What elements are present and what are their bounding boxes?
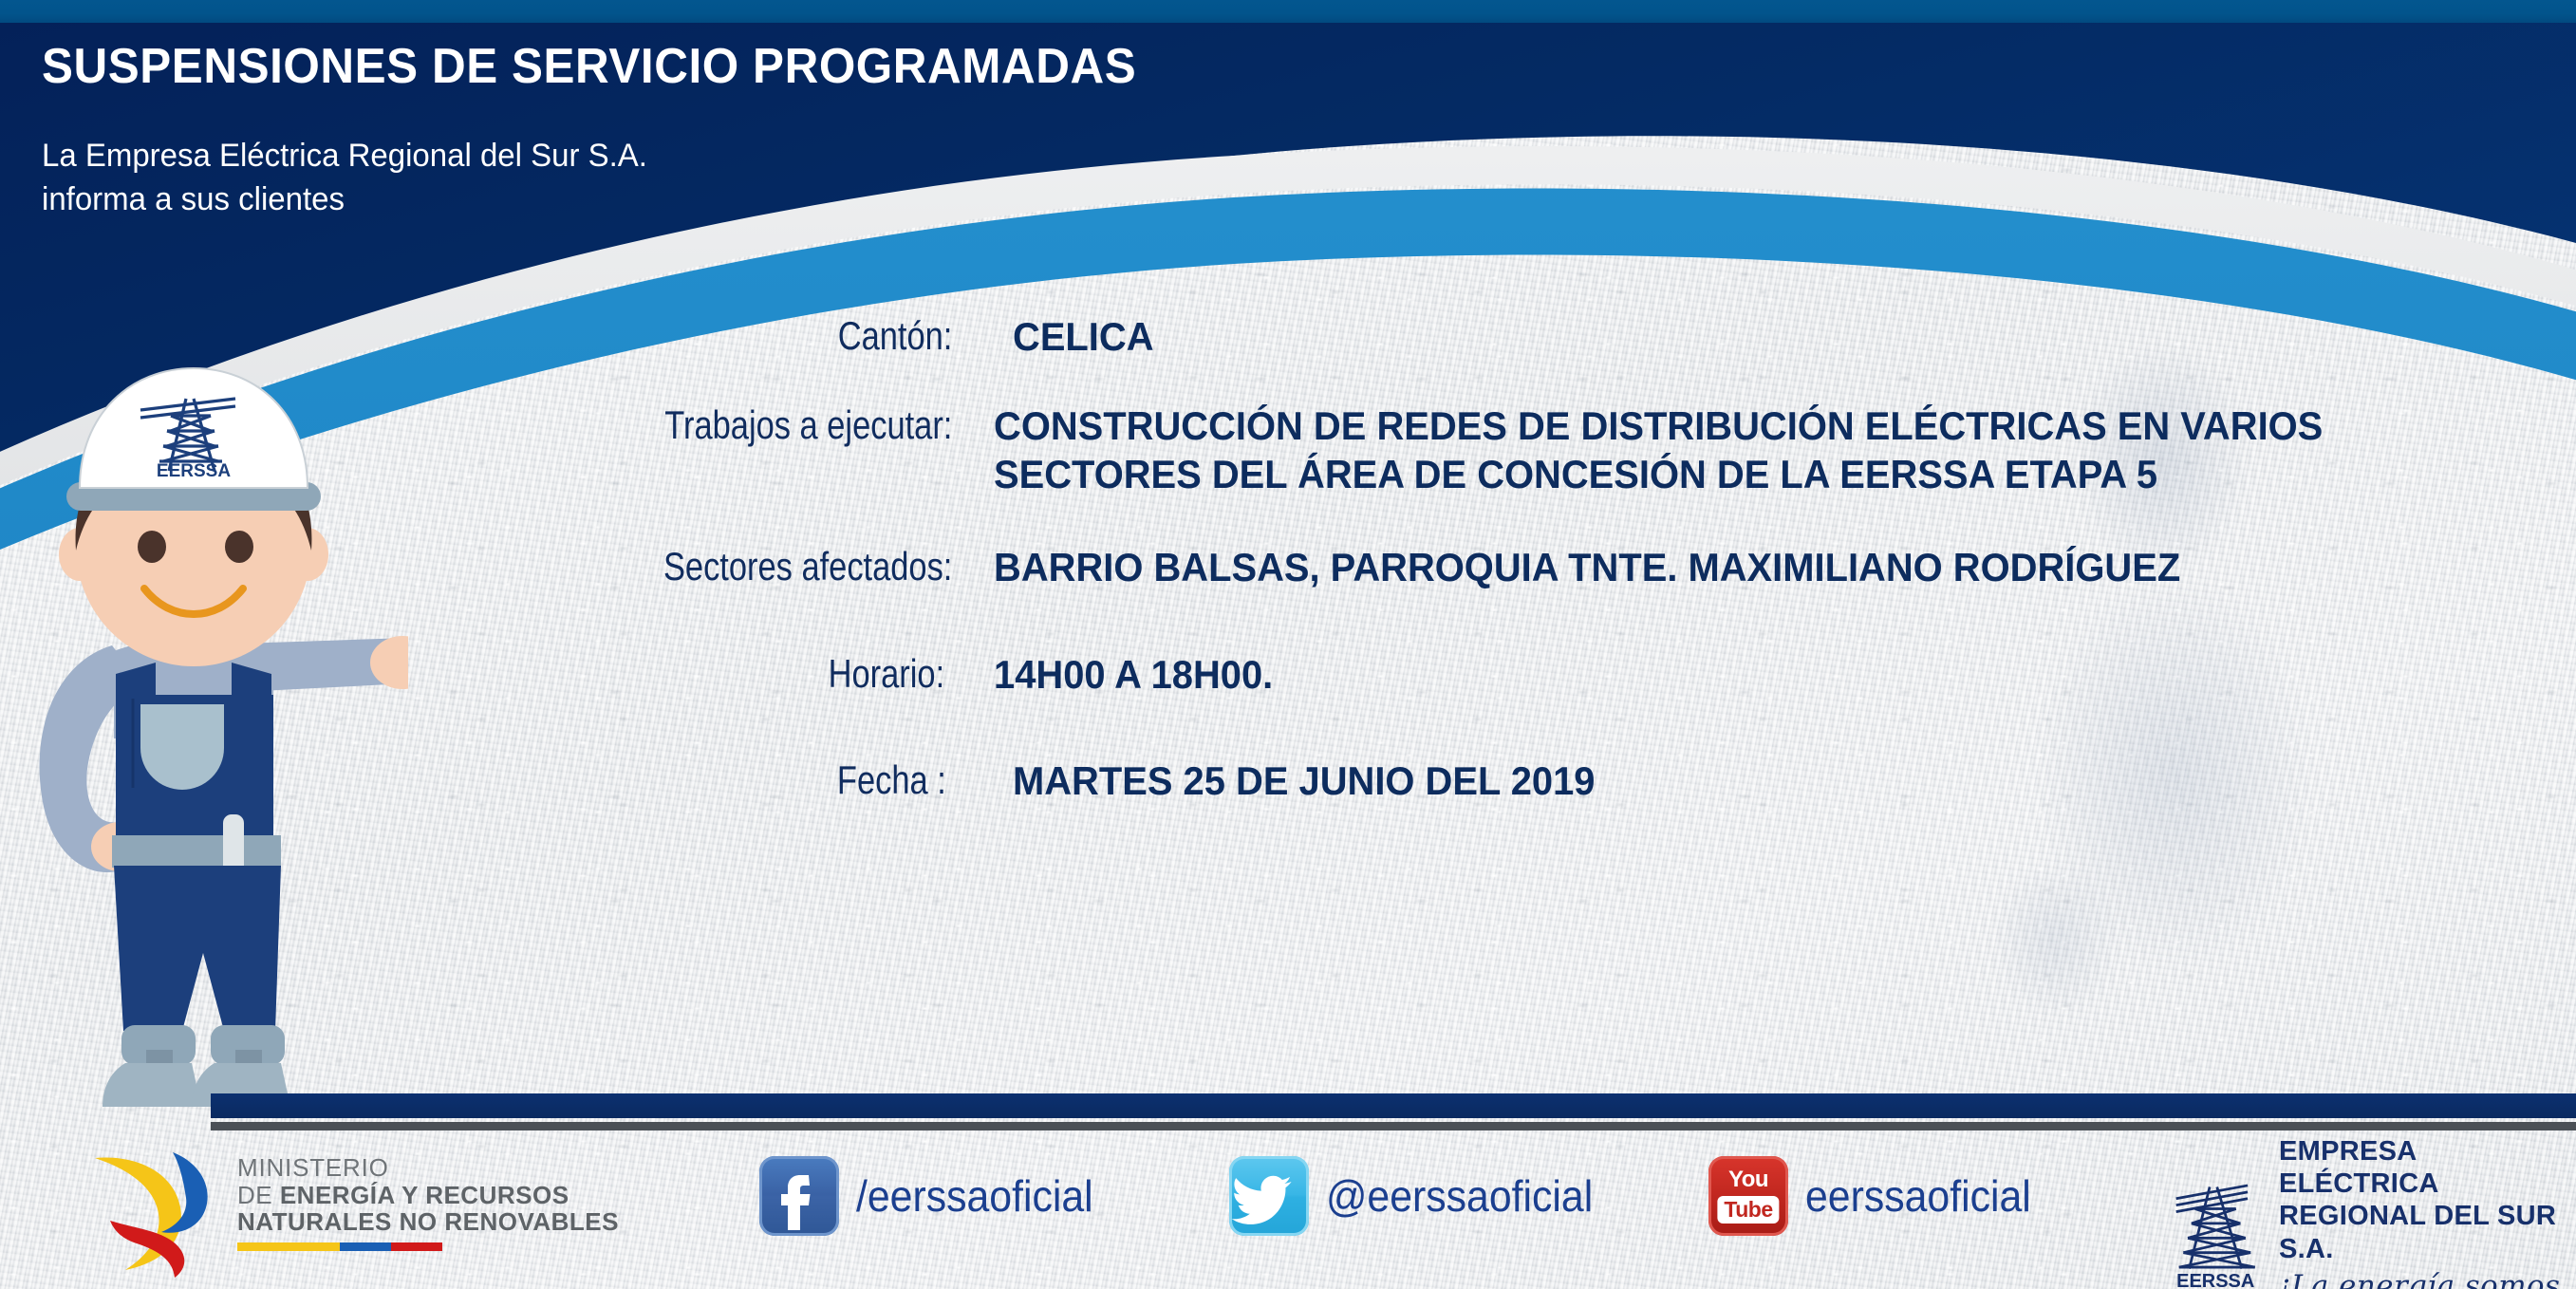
twitter-handle[interactable]: @eerssaoficial [1326, 1170, 1593, 1222]
value-canton: CELICA [1013, 313, 2341, 361]
footer-divider-grey [211, 1122, 2576, 1130]
social-twitter[interactable]: @eerssaoficial [1229, 1156, 1613, 1236]
ministry-logo-block: MINISTERIO DE ENERGÍA Y RECURSOS NATURAL… [82, 1137, 619, 1280]
company-name-line-1: EMPRESA ELÉCTRICA [2279, 1135, 2576, 1200]
company-name-block: EMPRESA ELÉCTRICA REGIONAL DEL SUR S.A. … [2279, 1135, 2576, 1289]
label-fecha: Fecha : [586, 757, 947, 802]
poster-root: SUSPENSIONES DE SERVICIO PROGRAMADAS La … [0, 0, 2576, 1289]
info-row-sectores: Sectores afectados: BARRIO BALSAS, PARRO… [513, 544, 2411, 591]
ministry-line-2-light: DE [237, 1181, 280, 1209]
company-slogan: ¡La energía somos todos! [2279, 1269, 2576, 1289]
top-accent-strip [0, 0, 2576, 23]
twitter-icon[interactable] [1229, 1156, 1309, 1236]
facebook-handle[interactable]: /eerssaoficial [856, 1170, 1093, 1222]
youtube-badge-top: You [1728, 1167, 1768, 1193]
worker-mascot: EERSSA [0, 361, 408, 1149]
ministry-swirl-icon [82, 1137, 224, 1280]
company-name-line-2: REGIONAL DEL SUR S.A. [2279, 1200, 2576, 1264]
label-horario: Horario: [585, 651, 946, 696]
info-block: Cantón: CELICA Trabajos a ejecutar: CONS… [513, 313, 2411, 830]
youtube-icon[interactable]: You Tube [1708, 1156, 1788, 1236]
value-fecha: MARTES 25 DE JUNIO DEL 2019 [1013, 757, 2341, 805]
helmet-logo-text: EERSSA [157, 461, 231, 481]
info-row-canton: Cantón: CELICA [513, 313, 2411, 361]
ministry-line-3: NATURALES NO RENOVABLES [237, 1208, 619, 1236]
label-sectores: Sectores afectados: [592, 544, 954, 588]
info-row-trabajos: Trabajos a ejecutar: CONSTRUCCIÓN DE RED… [513, 402, 2411, 498]
facebook-icon[interactable] [759, 1156, 839, 1236]
label-trabajos: Trabajos a ejecutar: [592, 402, 954, 447]
subtitle-line-1: La Empresa Eléctrica Regional del Sur S.… [42, 135, 647, 178]
footer-divider-navy [211, 1093, 2576, 1118]
page-title: SUSPENSIONES DE SERVICIO PROGRAMADAS [42, 38, 1136, 95]
value-sectores: BARRIO BALSAS, PARROQUIA TNTE. MAXIMILIA… [994, 544, 2340, 591]
social-youtube[interactable]: You Tube eerssaoficial [1708, 1156, 2048, 1236]
eerssa-logo-text: EERSSA [2176, 1271, 2254, 1289]
page-subtitle: La Empresa Eléctrica Regional del Sur S.… [42, 135, 647, 221]
info-row-fecha: Fecha : MARTES 25 DE JUNIO DEL 2019 [513, 757, 2411, 805]
youtube-badge-bottom: Tube [1717, 1196, 1779, 1224]
value-horario: 14H00 A 18H00. [994, 651, 2340, 699]
info-row-horario: Horario: 14H00 A 18H00. [513, 651, 2411, 699]
subtitle-line-2: informa a sus clientes [42, 178, 647, 222]
label-canton: Cantón: [592, 313, 954, 358]
ecuador-flag-bar [237, 1242, 442, 1251]
company-logo-block: EERSSA EMPRESA ELÉCTRICA REGIONAL DEL SU… [2169, 1135, 2576, 1289]
ministry-text: MINISTERIO DE ENERGÍA Y RECURSOS NATURAL… [237, 1154, 619, 1251]
ministry-line-2-bold: ENERGÍA Y RECURSOS [280, 1181, 569, 1209]
ministry-line-2: DE ENERGÍA Y RECURSOS [237, 1182, 619, 1209]
youtube-handle[interactable]: eerssaoficial [1805, 1170, 2031, 1222]
eerssa-tower-icon: EERSSA [2169, 1165, 2264, 1289]
ministry-line-1: MINISTERIO [237, 1154, 619, 1182]
social-facebook[interactable]: /eerssaoficial [759, 1156, 1111, 1236]
value-trabajos: CONSTRUCCIÓN DE REDES DE DISTRIBUCIÓN EL… [994, 402, 2340, 498]
